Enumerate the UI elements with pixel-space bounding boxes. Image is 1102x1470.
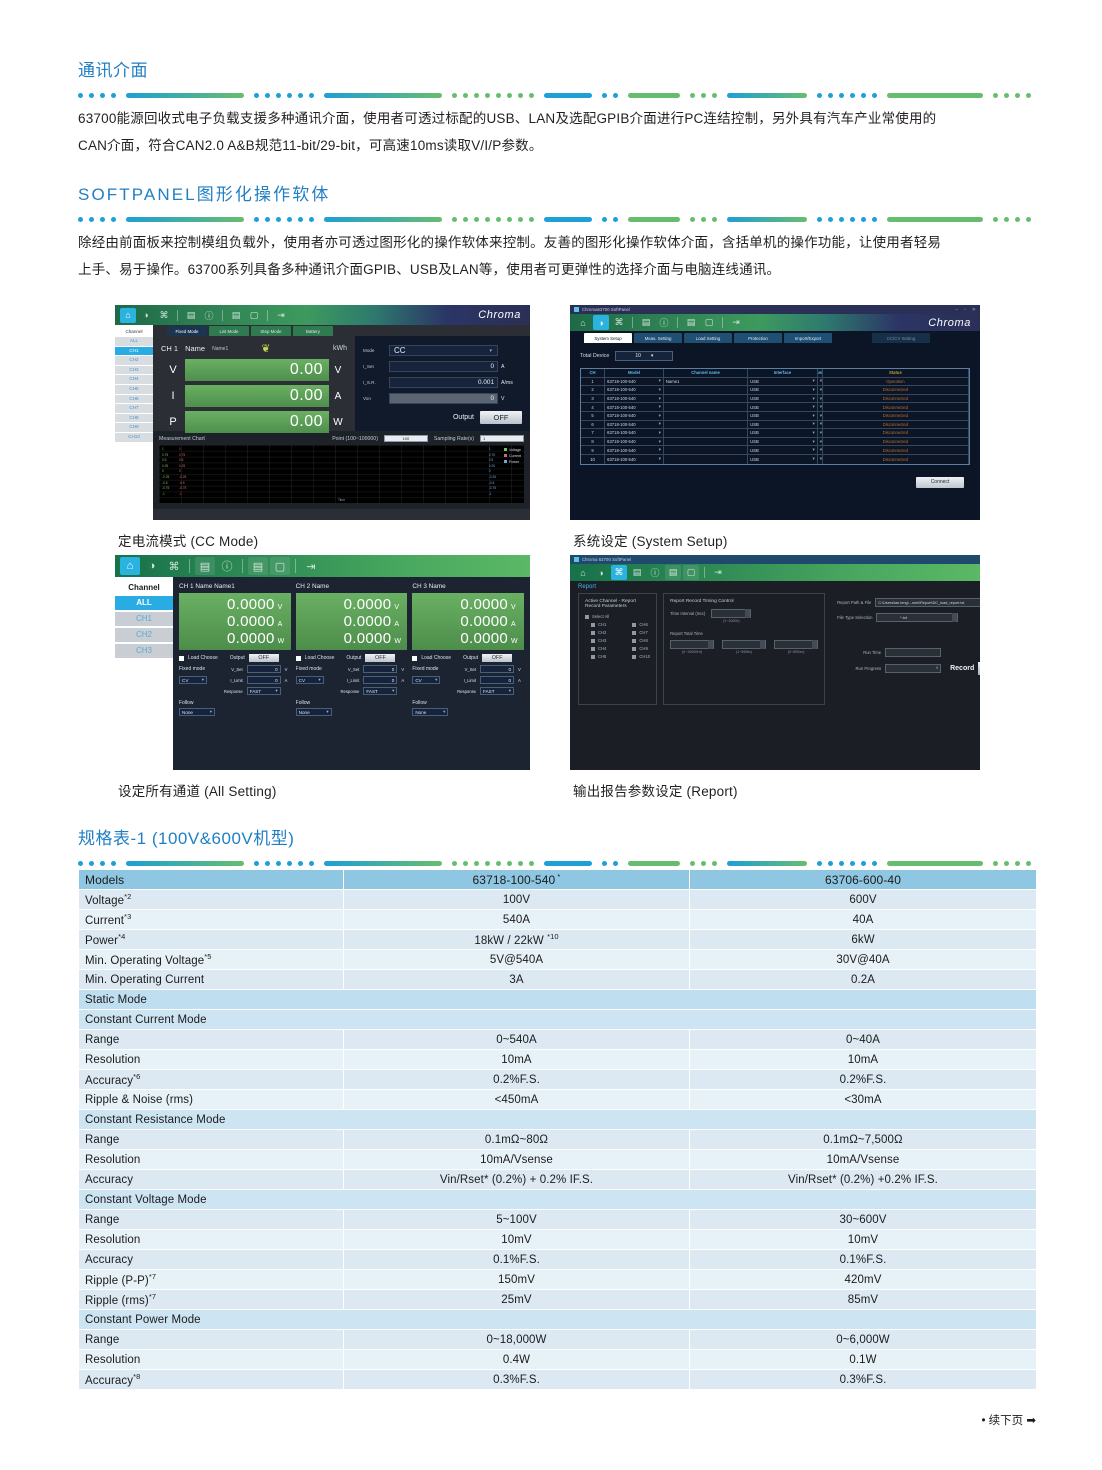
- save-icon[interactable]: ▤: [248, 557, 268, 575]
- cell-status: Disconnected: [823, 455, 969, 464]
- load-choose-checkbox[interactable]: [412, 656, 417, 661]
- cell-interface: USB▾: [748, 403, 818, 411]
- meter-label-i: I: [161, 390, 185, 402]
- chevron-down-icon[interactable]: ▾: [820, 430, 822, 436]
- channel-checkbox[interactable]: CH4: [591, 646, 606, 651]
- meter-v: 0.0000V: [417, 596, 519, 613]
- cc-tabstrip: Fixed Mode List Mode Step Mode Battery: [153, 325, 530, 336]
- home-icon[interactable]: ⌂: [120, 308, 136, 323]
- output-toggle-button[interactable]: OFF: [482, 654, 512, 662]
- tab-load-setting[interactable]: Load Setting: [684, 333, 732, 343]
- spec-row-label: Current*3: [79, 910, 344, 930]
- time-interval-hint: (1~10000): [711, 619, 751, 623]
- tab-step-mode[interactable]: Step Mode: [251, 326, 291, 336]
- select-all-checkbox[interactable]: Select All: [585, 614, 650, 619]
- network-icon[interactable]: ⌘: [156, 308, 172, 323]
- report-panels: Active Channel - Report Record Parameter…: [570, 593, 980, 705]
- cell-name[interactable]: [664, 438, 748, 446]
- table-row[interactable]: 3 63718-100-540▾ USB▾ ▾ Disconnected: [581, 395, 969, 404]
- chevron-down-icon[interactable]: ▾: [659, 456, 661, 462]
- cc-name-label: Name: [185, 344, 205, 353]
- chevron-down-icon[interactable]: ▾: [820, 387, 822, 393]
- toolbar-separator: [189, 559, 190, 573]
- spec-row: Constant Resistance Mode: [79, 1110, 1037, 1130]
- chevron-down-icon[interactable]: ▾: [812, 439, 814, 445]
- column-meters: 0.0000V 0.0000A 0.0000W: [179, 593, 291, 650]
- spec-value-model-b: 40A: [690, 910, 1037, 930]
- system-toolbar: ⌂ ◑ ⌘ ▤ ⓘ ▤ ▢ ⇥ Chroma: [570, 314, 980, 331]
- system-titlebar: Chroma63700 SoftPanel − ▫ ✕: [570, 305, 980, 314]
- load-choose-checkbox[interactable]: [296, 656, 301, 661]
- cc-main: Fixed Mode List Mode Step Mode Battery C…: [153, 325, 530, 520]
- cell-model: 63718-100-540▾: [605, 403, 664, 411]
- all-channel-all[interactable]: ALL: [115, 596, 173, 610]
- chevron-down-icon[interactable]: ▾: [659, 447, 661, 453]
- cell-name[interactable]: [664, 403, 748, 411]
- spec-value-model-b: 0.2%F.S.: [690, 1070, 1037, 1090]
- spec-value-model-a: 150mV: [344, 1270, 690, 1290]
- info-icon[interactable]: ⓘ: [656, 315, 672, 330]
- tab-system-setup[interactable]: System Setup: [584, 333, 632, 343]
- table-row[interactable]: 4 63718-100-540▾ USB▾ ▾ Disconnected: [581, 403, 969, 412]
- mode-dropdown[interactable]: CC ▾: [389, 345, 498, 356]
- chevron-down-icon[interactable]: ▾: [659, 378, 661, 384]
- output-label: Output: [346, 655, 361, 661]
- cc-channel-ch7[interactable]: CH7: [115, 404, 153, 413]
- chevron-down-icon[interactable]: ▾: [812, 421, 814, 427]
- meter-w: 0.0000W: [301, 630, 403, 647]
- cc-channel-ch9[interactable]: CH9: [115, 423, 153, 432]
- maximize-icon[interactable]: ▫: [964, 307, 966, 313]
- all-setting-body: Channel ALL CH1 CH2 CH3 CH 1 Name Name1 …: [115, 577, 530, 770]
- cc-toolbar: ⌂ ◑ ⌘ ▤ ⓘ ▤ ▢ ⇥ Chroma: [115, 305, 530, 325]
- cc-channel-ch2[interactable]: CH2: [115, 356, 153, 365]
- cell-model: 63718-100-540▾: [605, 421, 664, 429]
- table-row[interactable]: 1 63718-100-540▾ Name1 USB▾ ▾ Operation: [581, 378, 969, 387]
- window-controls: − ▫ ✕: [955, 307, 976, 313]
- report-path-input[interactable]: C:\Users\ian.teng\...nnel\Report\DC_load…: [875, 598, 980, 607]
- spec-row: Range0~18,000W0~6,000W: [79, 1330, 1037, 1350]
- save-icon[interactable]: ▤: [683, 315, 699, 330]
- spec-row: Ripple (rms)*725mV85mV: [79, 1290, 1037, 1310]
- tab-protection[interactable]: Protection: [734, 333, 782, 343]
- channel-checkbox[interactable]: CH9: [632, 646, 650, 651]
- mode-dropdown[interactable]: CV▾: [296, 676, 324, 684]
- paragraph-line: CAN介面，符合CAN2.0 A&B规范11-bit/29-bit，可高速10m…: [78, 132, 1036, 159]
- spec-row-label: Ripple (rms)*7: [79, 1290, 344, 1310]
- save-icon[interactable]: ▤: [228, 308, 244, 323]
- report-path-label: Report Path & File: [837, 600, 871, 605]
- chevron-down-icon[interactable]: ▾: [659, 404, 661, 410]
- chevron-down-icon[interactable]: ▾: [812, 387, 814, 393]
- spec-row-label: Constant Current Mode: [79, 1010, 1037, 1030]
- record-label: Record: [950, 665, 974, 672]
- output-toggle-button[interactable]: OFF: [480, 411, 522, 424]
- spec-row-label: Min. Operating Voltage*5: [79, 950, 344, 970]
- file-type-select[interactable]: *.txt: [876, 613, 958, 622]
- spec-footnote-marker: *7: [149, 1272, 156, 1281]
- cc-channel-all[interactable]: ALL: [115, 337, 153, 346]
- point-input[interactable]: 100: [384, 435, 428, 442]
- report-icon[interactable]: ▤: [638, 315, 654, 330]
- field-iset: I_Set 0 A: [363, 361, 522, 372]
- spec-footnote-marker: *: [555, 872, 560, 881]
- total-sec-spinner[interactable]: [774, 640, 818, 649]
- info-icon[interactable]: ⓘ: [217, 557, 237, 575]
- chevron-down-icon[interactable]: ▾: [659, 421, 661, 427]
- home-icon[interactable]: ⌂: [575, 315, 591, 330]
- cell-status: Operation: [823, 378, 969, 386]
- output-toggle-button[interactable]: OFF: [249, 654, 279, 662]
- folder-icon[interactable]: ▢: [246, 308, 262, 323]
- col-ch: CH: [581, 369, 605, 377]
- record-toggle-button[interactable]: OFF: [978, 662, 980, 675]
- ilimit-input[interactable]: 0: [480, 676, 514, 684]
- cc-channel-ch3[interactable]: CH3: [115, 366, 153, 375]
- fixed-mode-label: Fixed mode: [179, 666, 205, 672]
- meter-w: 0.0000W: [184, 630, 286, 647]
- chevron-down-icon[interactable]: ▾: [820, 404, 822, 410]
- channel-checkbox[interactable]: CH7: [632, 630, 650, 635]
- y-axis-current: 10.750.50.250-0.25-0.5-0.75-1: [179, 447, 186, 497]
- cc-top: CH 1 Name Name1 ❦ kWh V 0.00 V I: [153, 336, 530, 431]
- page-root: 通讯介面 63700能源回收式电子负载支援多种通讯介面，使用者可透过标配的USB…: [0, 0, 1102, 1470]
- total-min-spinner[interactable]: [722, 640, 766, 649]
- spec-value-model-a: Vin/Rset* (0.2%) + 0.2% IF.S.: [344, 1170, 690, 1190]
- all-column-ch3: CH 3 Name 0.0000V 0.0000A 0.0000W Load C…: [412, 583, 524, 716]
- cc-meter-current: I 0.00 A: [161, 385, 347, 407]
- spec-value-model-b: 0~6,000W: [690, 1330, 1037, 1350]
- vset-unit: V: [518, 667, 524, 672]
- ilimit-unit: A: [401, 678, 407, 683]
- load-choose-checkbox[interactable]: [179, 656, 184, 661]
- footer-continued: • 续下页 ➡: [981, 1412, 1036, 1428]
- y-axis-voltage: 10.750.50.250-0.25-0.5-0.75-1: [162, 447, 169, 497]
- paragraph-line: 除经由前面板来控制模组负载外，使用者亦可透过图形化的操作软体来控制。友善的图形化…: [78, 229, 1036, 256]
- table-row[interactable]: 7 63718-100-540▾ USB▾ ▾ Disconnected: [581, 429, 969, 438]
- chevron-down-icon[interactable]: ▾: [812, 456, 814, 462]
- cc-channel-ch6[interactable]: CH6: [115, 395, 153, 404]
- spec-value-model-b: 85mV: [690, 1290, 1037, 1310]
- meter-w: 0.0000W: [417, 630, 519, 647]
- brand-logo: Chroma: [478, 309, 525, 321]
- cc-channel-ch1[interactable]: CH1: [115, 347, 153, 356]
- fixed-mode-label: Fixed mode: [296, 666, 322, 672]
- total-device-value: 10: [635, 353, 641, 359]
- report-page-title: Report: [570, 581, 980, 593]
- load-output-line: Load Choose Output OFF: [179, 654, 291, 662]
- chevron-down-icon[interactable]: ▾: [812, 404, 814, 410]
- folder-icon[interactable]: ▢: [701, 315, 717, 330]
- tab-list-mode[interactable]: List Mode: [209, 326, 249, 336]
- chevron-down-icon[interactable]: ▾: [820, 421, 822, 427]
- network-icon[interactable]: ⌘: [611, 565, 627, 580]
- speaker-icon[interactable]: ◑: [142, 557, 162, 575]
- spec-value-model-a: 540A: [344, 910, 690, 930]
- chevron-down-icon[interactable]: ▾: [820, 396, 822, 402]
- all-main: CH 1 Name Name1 0.0000V 0.0000A 0.0000W …: [173, 577, 530, 770]
- system-tabstrip: System Setup Meas. Setting Load Setting …: [570, 331, 980, 343]
- cc-channel-ch5[interactable]: CH5: [115, 385, 153, 394]
- chevron-down-icon[interactable]: ▾: [820, 378, 822, 384]
- report-toolbar: ⌂ ◑ ⌘ ▤ ⓘ ▤ ▢ ⇥: [570, 564, 980, 581]
- spec-row: Ripple & Noise (rms)<450mA<30mA: [79, 1090, 1037, 1110]
- cell-model: 63718-100-540▾: [605, 386, 664, 394]
- connect-button[interactable]: Connect: [916, 477, 964, 488]
- ilimit-input[interactable]: 0: [247, 676, 281, 684]
- spec-row-label: Constant Power Mode: [79, 1310, 1037, 1330]
- table-row[interactable]: 2 63718-100-540▾ USB▾ ▾ Disconnected: [581, 386, 969, 395]
- chevron-down-icon[interactable]: ▾: [812, 378, 814, 384]
- home-icon[interactable]: ⌂: [575, 565, 591, 580]
- table-row[interactable]: 9 63718-100-540▾ USB▾ ▾ Disconnected: [581, 446, 969, 455]
- spec-row: Models63718-100-540 *63706-600-40: [79, 870, 1037, 890]
- spec-divider: [78, 860, 1036, 867]
- chevron-down-icon[interactable]: ▾: [812, 430, 814, 436]
- chevron-down-icon[interactable]: ▾: [820, 456, 822, 462]
- total-min-field: (1~59Min): [722, 640, 766, 654]
- spec-footnote-marker: *2: [124, 892, 131, 901]
- cell-model: 63718-100-540▾: [605, 446, 664, 454]
- all-sidebar-heading: Channel: [115, 577, 173, 596]
- close-icon[interactable]: ✕: [972, 307, 976, 313]
- report-icon[interactable]: ▤: [629, 565, 645, 580]
- response-dropdown[interactable]: FAST▾: [247, 687, 281, 695]
- spec-row: Static Mode: [79, 990, 1037, 1010]
- meter-a: 0.0000A: [184, 613, 286, 630]
- meter-a: 0.0000A: [417, 613, 519, 630]
- cell-name[interactable]: [664, 429, 748, 437]
- tab-ccvg-setting[interactable]: CC/CV Setting: [872, 333, 930, 343]
- report-path-row: Report Path & File C:\Users\ian.teng\...…: [837, 598, 980, 607]
- cell-status: Disconnected: [823, 395, 969, 403]
- column-title: CH 3 Name: [412, 583, 524, 590]
- spec-row-label: Range: [79, 1030, 344, 1050]
- energy-leaf-icon: ❦: [261, 342, 270, 355]
- output-toggle-button[interactable]: OFF: [365, 654, 395, 662]
- response-dropdown[interactable]: FAST▾: [480, 687, 514, 695]
- iset-input[interactable]: 0: [389, 361, 498, 372]
- total-hour-spinner[interactable]: [670, 640, 714, 649]
- spec-value-model-b: 10mA/Vsense: [690, 1150, 1037, 1170]
- total-device-select[interactable]: 10 ▾: [615, 351, 673, 361]
- follow-dropdown[interactable]: None▾: [179, 708, 215, 716]
- cc-channel-ch4[interactable]: CH4: [115, 375, 153, 384]
- cell-name[interactable]: [664, 446, 748, 454]
- caption-system-setup: 系统设定 (System Setup): [573, 530, 728, 550]
- spec-row: AccuracyVin/Rset* (0.2%) + 0.2% IF.S.Vin…: [79, 1170, 1037, 1190]
- fixed-mode-line: Fixed mode V_Set 0 V: [296, 665, 408, 673]
- report-icon[interactable]: ▤: [195, 557, 215, 575]
- spec-value-model-b: 0.2A: [690, 970, 1037, 990]
- follow-block: Follow None▾: [412, 700, 524, 716]
- sampling-value: 1: [483, 436, 485, 441]
- cell-interface: USB▾: [748, 455, 818, 464]
- cell-interface: USB▾: [748, 429, 818, 437]
- spec-table: Models63718-100-540 *63706-600-40Voltage…: [78, 869, 1037, 1390]
- channel-checkbox[interactable]: CH10: [632, 654, 650, 659]
- vset-input[interactable]: 0: [363, 665, 397, 673]
- cell-status: Disconnected: [823, 403, 969, 411]
- speaker-icon[interactable]: ◑: [593, 565, 609, 580]
- network-icon[interactable]: ⌘: [164, 557, 184, 575]
- chevron-down-icon: ▾: [275, 688, 277, 694]
- spec-row-label: Range: [79, 1330, 344, 1350]
- cell-name[interactable]: [664, 421, 748, 429]
- cell-model: 63718-100-540▾: [605, 455, 664, 464]
- tab-fixed-mode[interactable]: Fixed Mode: [167, 326, 207, 336]
- time-interval-spinner[interactable]: [711, 609, 751, 618]
- file-type-row: File Type Selection *.txt: [837, 613, 980, 622]
- tab-meas-setting[interactable]: Meas. Setting: [634, 333, 682, 343]
- window-title: Chroma 63700 SoftPanel: [582, 557, 631, 562]
- spec-value-model-a: 100V: [344, 890, 690, 910]
- run-time-label: Run Time: [837, 650, 881, 655]
- table-header-row: CH Model Channel name Interface Paramete…: [581, 369, 969, 378]
- toolbar-separator: [222, 310, 223, 321]
- spec-row: Constant Power Mode: [79, 1310, 1037, 1330]
- folder-icon[interactable]: ▢: [270, 557, 290, 575]
- follow-dropdown[interactable]: None▾: [296, 708, 332, 716]
- save-icon[interactable]: ▤: [665, 565, 681, 580]
- response-line: Response FAST▾: [412, 687, 524, 695]
- network-icon[interactable]: ⌘: [611, 315, 627, 330]
- spec-value-model-a: 0.4W: [344, 1350, 690, 1370]
- cc-meter-voltage: V 0.00 V: [161, 359, 347, 381]
- panel2-title: Report Record Timing Control: [670, 599, 818, 604]
- response-dropdown[interactable]: FAST▾: [363, 687, 397, 695]
- info-icon[interactable]: ⓘ: [647, 565, 663, 580]
- spec-row: Range0.1mΩ~80Ω0.1mΩ~7,500Ω: [79, 1130, 1037, 1150]
- spec-footnote-marker: *8: [133, 1372, 140, 1381]
- spec-value-model-b: 30V@40A: [690, 950, 1037, 970]
- cc-channel-sidebar: Channel ALL CH1 CH2 CH3 CH4 CH5 CH6 CH7 …: [115, 325, 153, 520]
- all-channel-ch3[interactable]: CH3: [115, 644, 173, 658]
- cc-kwh-label: kWh: [333, 345, 347, 352]
- table-row[interactable]: 8 63718-100-540▾ USB▾ ▾ Disconnected: [581, 438, 969, 447]
- chevron-down-icon[interactable]: ▾: [812, 413, 814, 419]
- vset-input[interactable]: 0: [247, 665, 281, 673]
- table-row[interactable]: 10 63718-100-540▾ USB▾ ▾ Disconnected: [581, 455, 969, 464]
- meter-value-v: 0.00: [185, 359, 329, 381]
- spec-row: Accuracy*80.3%F.S.0.3%F.S.: [79, 1370, 1037, 1390]
- load-output-line: Load Choose Output OFF: [412, 654, 524, 662]
- spec-value-model-b: 10mA: [690, 1050, 1037, 1070]
- chevron-down-icon[interactable]: ▾: [659, 430, 661, 436]
- spec-value-model-b: 63706-600-40: [690, 870, 1037, 890]
- cell-name[interactable]: [664, 386, 748, 394]
- vset-input[interactable]: 0: [480, 665, 514, 673]
- channel-checkbox[interactable]: CH2: [591, 630, 606, 635]
- chevron-down-icon[interactable]: ▾: [659, 413, 661, 419]
- info-icon[interactable]: ⓘ: [201, 308, 217, 323]
- tab-import-export[interactable]: Import/Export: [784, 333, 832, 343]
- exit-icon[interactable]: ⇥: [301, 557, 321, 575]
- spec-footnote-marker: *5: [204, 952, 211, 961]
- exit-icon[interactable]: ⇥: [728, 315, 744, 330]
- sampling-input[interactable]: 1: [480, 435, 524, 442]
- cell-name[interactable]: [664, 455, 748, 464]
- chart-title: Measurement Chart: [159, 436, 205, 442]
- table-row[interactable]: 5 63718-100-540▾ USB▾ ▾ Disconnected: [581, 412, 969, 421]
- all-channel-ch2[interactable]: CH2: [115, 628, 173, 642]
- spec-row-label: Resolution: [79, 1050, 344, 1070]
- von-input[interactable]: 0: [389, 393, 498, 404]
- cell-name[interactable]: [664, 412, 748, 420]
- mode-value: CC: [394, 346, 406, 355]
- spec-row: Min. Operating Current3A0.2A: [79, 970, 1037, 990]
- chevron-down-icon[interactable]: ▾: [659, 396, 661, 402]
- mode-limit-line: CV▾ I_Limit 0 A: [179, 676, 291, 684]
- channel-checkbox[interactable]: CH5: [591, 654, 606, 659]
- table-row[interactable]: 6 63718-100-540▾ USB▾ ▾ Disconnected: [581, 421, 969, 430]
- spec-row: Resolution10mA10mA: [79, 1050, 1037, 1070]
- speaker-icon[interactable]: ◑: [138, 308, 154, 323]
- spec-row: Accuracy0.1%F.S.0.1%F.S.: [79, 1250, 1037, 1270]
- cell-name[interactable]: [664, 395, 748, 403]
- mode-dropdown[interactable]: CV▾: [179, 676, 207, 684]
- mode-dropdown[interactable]: CV▾: [412, 676, 440, 684]
- chevron-down-icon[interactable]: ▾: [812, 447, 814, 453]
- field-unit-von: V: [498, 396, 522, 402]
- chevron-down-icon[interactable]: ▾: [820, 413, 822, 419]
- ilimit-input[interactable]: 0: [363, 676, 397, 684]
- column-controls: Load Choose Output OFF Fixed mode V_Set …: [179, 654, 291, 716]
- isr-input[interactable]: 0.001: [389, 377, 498, 388]
- follow-label: Follow: [179, 700, 291, 706]
- spec-row: Resolution10mV10mV: [79, 1230, 1037, 1250]
- spec-row: Voltage*2100V600V: [79, 890, 1037, 910]
- speaker-icon[interactable]: ◑: [593, 315, 609, 330]
- folder-icon[interactable]: ▢: [683, 565, 699, 580]
- exit-icon[interactable]: ⇥: [273, 308, 289, 323]
- spec-value-model-a: 10mA: [344, 1050, 690, 1070]
- spec-row-label: Accuracy*6: [79, 1070, 344, 1090]
- y-axis-power: 10.750.50.250-0.25-0.5-0.75-1: [489, 447, 496, 497]
- cc-channel-ch8[interactable]: CH8: [115, 414, 153, 423]
- all-channel-ch1[interactable]: CH1: [115, 612, 173, 626]
- response-line: Response FAST▾: [179, 687, 291, 695]
- caption-cc-mode: 定电流模式 (CC Mode): [118, 530, 258, 550]
- chevron-down-icon[interactable]: ▾: [820, 447, 822, 453]
- chevron-down-icon[interactable]: ▾: [820, 439, 822, 445]
- channel-checkbox[interactable]: CH8: [632, 638, 650, 643]
- channel-checkbox[interactable]: CH1: [591, 622, 606, 627]
- cell-status: Disconnected: [823, 429, 969, 437]
- chevron-down-icon[interactable]: ▾: [812, 396, 814, 402]
- total-device-row: Total Device 10 ▾: [580, 351, 970, 361]
- spec-value-model-a: 0.3%F.S.: [344, 1370, 690, 1390]
- report-icon[interactable]: ▤: [183, 308, 199, 323]
- channel-checkbox[interactable]: CH6: [632, 622, 650, 627]
- cc-channel-ch10[interactable]: CH10: [115, 433, 153, 442]
- minimize-icon[interactable]: −: [955, 307, 958, 313]
- spec-value-model-a: 18kW / 22kW *10: [344, 930, 690, 950]
- spec-value-model-b: 0.1%F.S.: [690, 1250, 1037, 1270]
- home-icon[interactable]: ⌂: [120, 557, 140, 575]
- channel-checkbox[interactable]: CH3: [591, 638, 606, 643]
- vset-label: V_Set: [348, 667, 359, 672]
- toolbar-separator: [242, 559, 243, 573]
- chevron-down-icon[interactable]: ▾: [659, 439, 661, 445]
- follow-dropdown[interactable]: None▾: [412, 708, 448, 716]
- exit-icon[interactable]: ⇥: [710, 565, 726, 580]
- screenshot-report: Chroma 63700 SoftPanel ⌂ ◑ ⌘ ▤ ⓘ ▤ ▢ ⇥ R…: [570, 555, 980, 770]
- tab-battery[interactable]: Battery: [293, 326, 333, 336]
- cell-name[interactable]: Name1: [664, 378, 748, 386]
- chevron-down-icon[interactable]: ▾: [659, 387, 661, 393]
- field-unit-isr: A/ms: [498, 380, 522, 386]
